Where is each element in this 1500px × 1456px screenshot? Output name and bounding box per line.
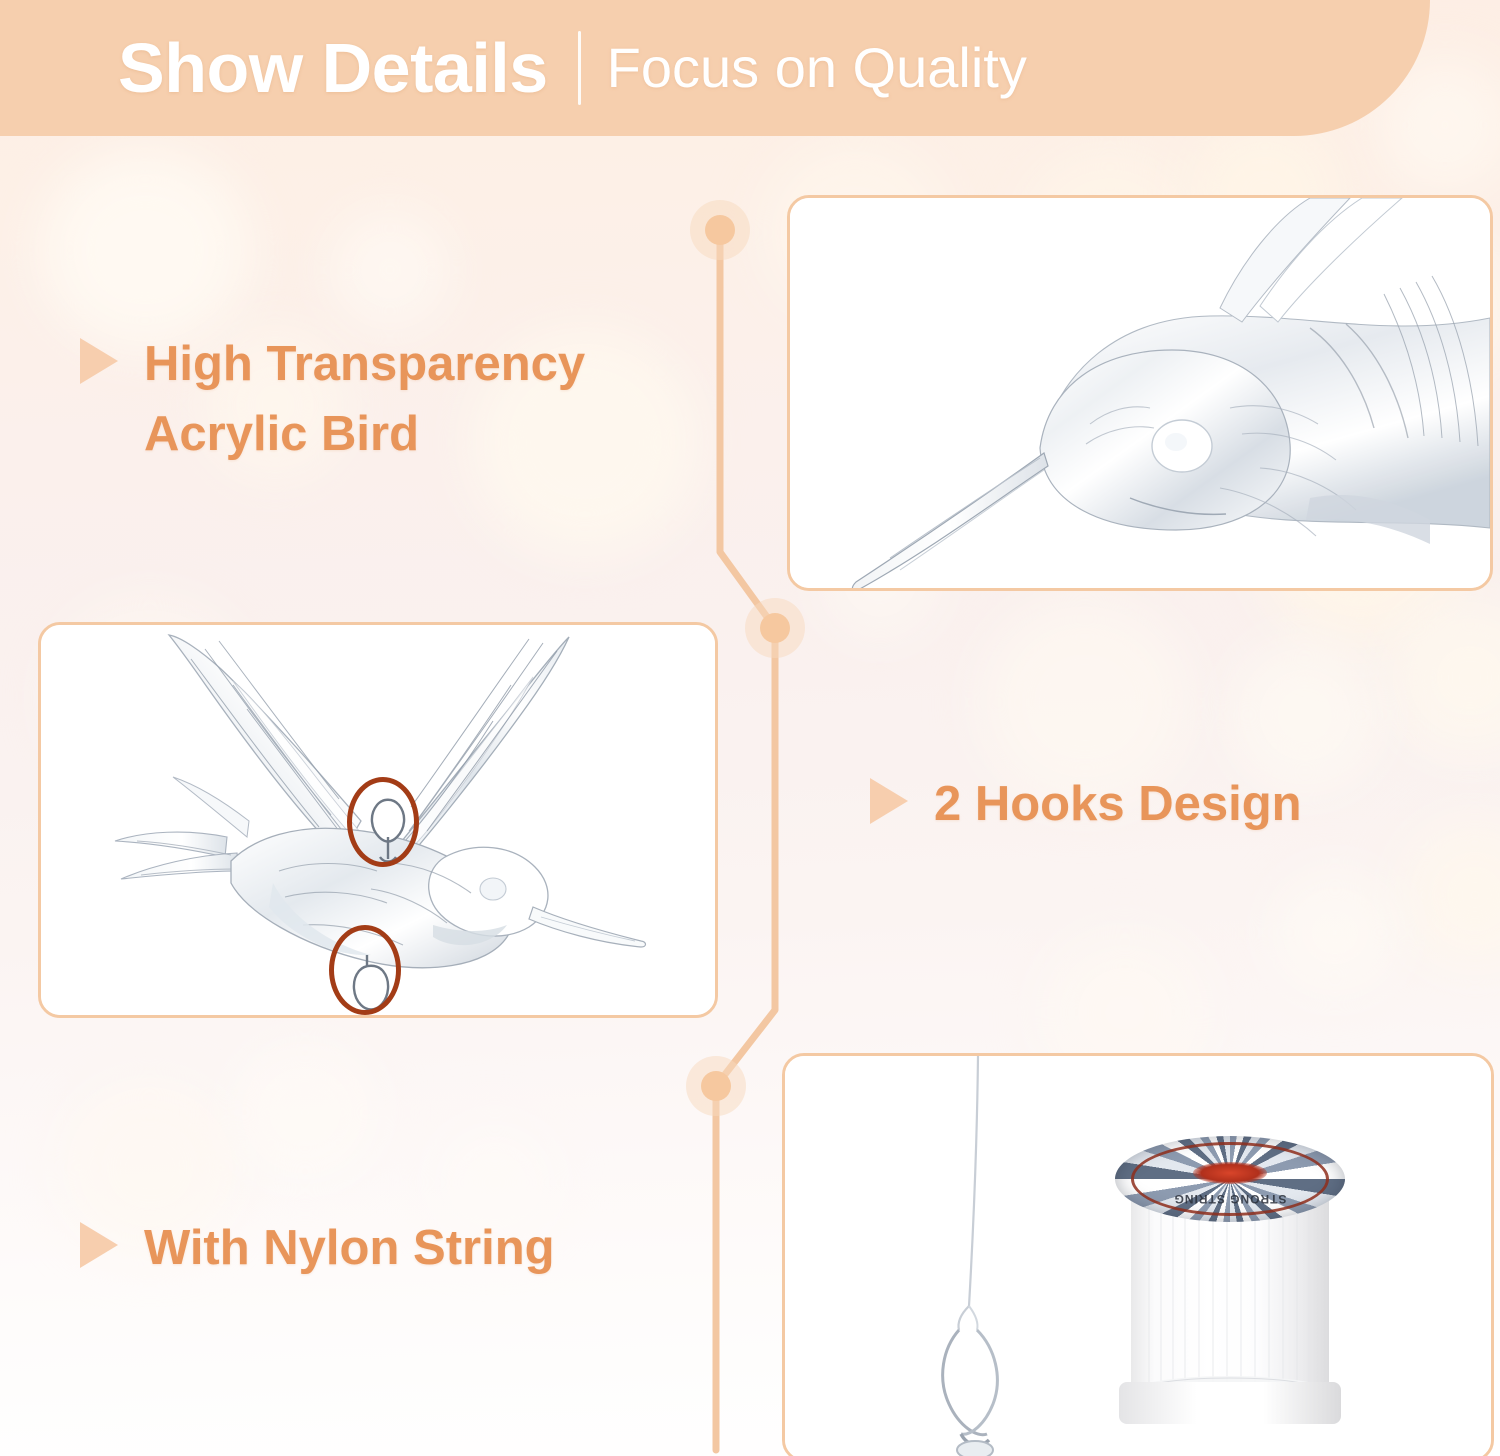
feature-nylon-string: With Nylon String [80, 1214, 640, 1284]
triangle-bullet-icon [80, 1222, 118, 1268]
acrylic-bird-head-art [790, 198, 1490, 588]
page-subtitle: Focus on Quality [607, 40, 1027, 96]
card-bird-full-hooks [38, 622, 718, 1018]
hook-highlight-ring-upper [347, 777, 419, 867]
feature-two-hooks: 2 Hooks Design [870, 770, 1390, 840]
spool-bottom-flange [1119, 1382, 1341, 1424]
bokeh-circle [40, 150, 250, 350]
bokeh-circle [230, 1040, 380, 1185]
card-nylon-string-spool: STRONG STRING [782, 1053, 1494, 1456]
spool-assembly: STRONG STRING [1115, 1136, 1345, 1426]
feature-label: With Nylon String [144, 1214, 555, 1284]
triangle-bullet-icon [80, 338, 118, 384]
bokeh-circle [1230, 640, 1380, 790]
bokeh-circle [1390, 600, 1500, 755]
feature-high-transparency: High Transparency Acrylic Bird [80, 330, 680, 469]
photo-nylon-string-spool: STRONG STRING [785, 1056, 1491, 1456]
bokeh-circle [1270, 870, 1400, 995]
triangle-bullet-icon [870, 778, 908, 824]
photo-bird-head-closeup [790, 198, 1490, 588]
page-title: Show Details [118, 33, 548, 103]
card-bird-head-closeup [787, 195, 1493, 591]
infographic-page: Show Details Focus on Quality High Trans… [0, 0, 1500, 1456]
spool-label-text: STRONG STRING [1115, 1192, 1345, 1206]
feature-label: 2 Hooks Design [934, 770, 1302, 840]
vertical-divider-icon [578, 31, 581, 105]
bokeh-circle [330, 210, 450, 330]
spool-label-center-graphic [1193, 1162, 1267, 1184]
photo-bird-full-hooks [41, 625, 715, 1015]
bokeh-circle [1400, 820, 1500, 970]
header-banner: Show Details Focus on Quality [0, 0, 1430, 136]
hook-highlight-ring-lower [329, 925, 401, 1015]
feature-label: High Transparency Acrylic Bird [144, 330, 585, 469]
header-banner-content: Show Details Focus on Quality [118, 0, 1027, 136]
spool-label-cap: STRONG STRING [1115, 1136, 1345, 1222]
